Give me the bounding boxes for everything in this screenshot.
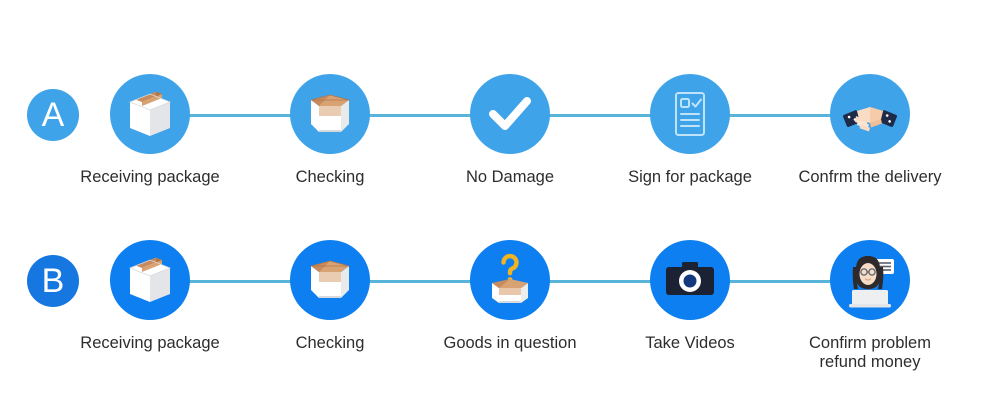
step-a-4-label: Sign for package xyxy=(600,168,780,187)
step-b-4-circle xyxy=(650,240,730,320)
open-box-icon xyxy=(302,252,358,308)
step-b-3-circle xyxy=(470,240,550,320)
step-b-5[interactable]: Confirm problem refund money xyxy=(780,240,960,372)
step-a-1-circle xyxy=(110,74,190,154)
step-a-2-label: Checking xyxy=(240,168,420,187)
camera-icon xyxy=(662,252,718,308)
closed-box-icon xyxy=(122,86,178,142)
signed-document-icon xyxy=(663,87,717,141)
closed-box-icon xyxy=(122,252,178,308)
step-b-2-label: Checking xyxy=(240,334,420,353)
step-a-4[interactable]: Sign for package xyxy=(600,74,780,187)
step-b-1[interactable]: Receiving package xyxy=(60,240,240,353)
step-b-1-circle xyxy=(110,240,190,320)
checkmark-icon xyxy=(484,88,536,140)
step-a-3-label: No Damage xyxy=(420,168,600,187)
step-b-5-circle xyxy=(830,240,910,320)
step-b-4[interactable]: Take Videos xyxy=(600,240,780,353)
step-a-2-circle xyxy=(290,74,370,154)
step-b-2[interactable]: Checking xyxy=(240,240,420,353)
step-b-3-label: Goods in question xyxy=(420,334,600,353)
step-a-3-circle xyxy=(470,74,550,154)
open-box-icon xyxy=(302,86,358,142)
step-b-1-label: Receiving package xyxy=(60,334,240,353)
step-b-4-label: Take Videos xyxy=(600,334,780,353)
step-a-5-circle xyxy=(830,74,910,154)
support-agent-icon xyxy=(837,247,903,313)
step-a-2[interactable]: Checking xyxy=(240,74,420,187)
step-b-5-label: Confirm problem refund money xyxy=(780,334,960,372)
step-a-4-circle xyxy=(650,74,730,154)
step-b-2-circle xyxy=(290,240,370,320)
flow-row-b: B Receiving package xyxy=(0,203,1000,406)
step-a-5-label: Confrm the delivery xyxy=(780,168,960,187)
question-box-icon xyxy=(481,251,539,309)
handshake-icon xyxy=(841,85,899,143)
step-b-3[interactable]: Goods in question xyxy=(420,240,600,353)
step-a-1[interactable]: Receiving package xyxy=(60,74,240,187)
flow-row-a: A Receiving package xyxy=(0,0,1000,203)
step-a-3[interactable]: No Damage xyxy=(420,74,600,187)
step-a-5[interactable]: Confrm the delivery xyxy=(780,74,960,187)
step-a-1-label: Receiving package xyxy=(60,168,240,187)
